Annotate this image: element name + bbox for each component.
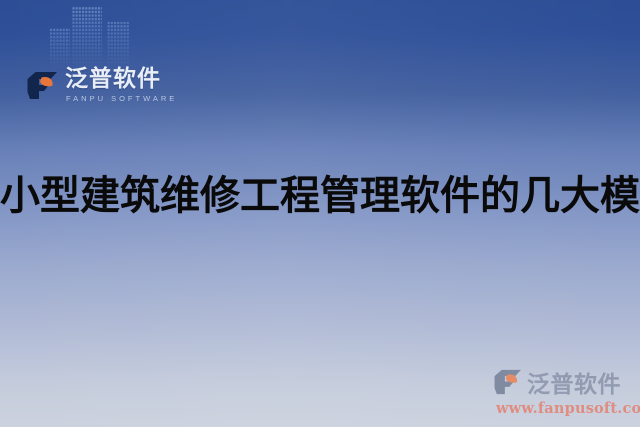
watermark-logo-row: 泛普软件	[494, 365, 634, 399]
fanpu-hexagon-logo-icon	[27, 71, 58, 100]
slide-canvas: 泛普软件 FANPU SOFTWARE 小型建筑维修工程管理软件的几大模块 泛普…	[0, 0, 640, 427]
watermark-url: www.fanpusoft.com	[494, 400, 634, 417]
brand-logo: 泛普软件 FANPU SOFTWARE	[27, 68, 177, 103]
fanpu-hexagon-logo-icon	[494, 369, 522, 395]
watermark-name-cn: 泛普软件	[527, 365, 621, 399]
brand-name-en: FANPU SOFTWARE	[65, 95, 177, 103]
page-title: 小型建筑维修工程管理软件的几大模块	[0, 172, 640, 220]
brand-name-cn: 泛普软件	[65, 68, 177, 91]
brand-text: 泛普软件 FANPU SOFTWARE	[65, 68, 177, 103]
watermark: 泛普软件 www.fanpusoft.com	[494, 365, 634, 417]
pixel-skyline-icon	[50, 0, 180, 72]
